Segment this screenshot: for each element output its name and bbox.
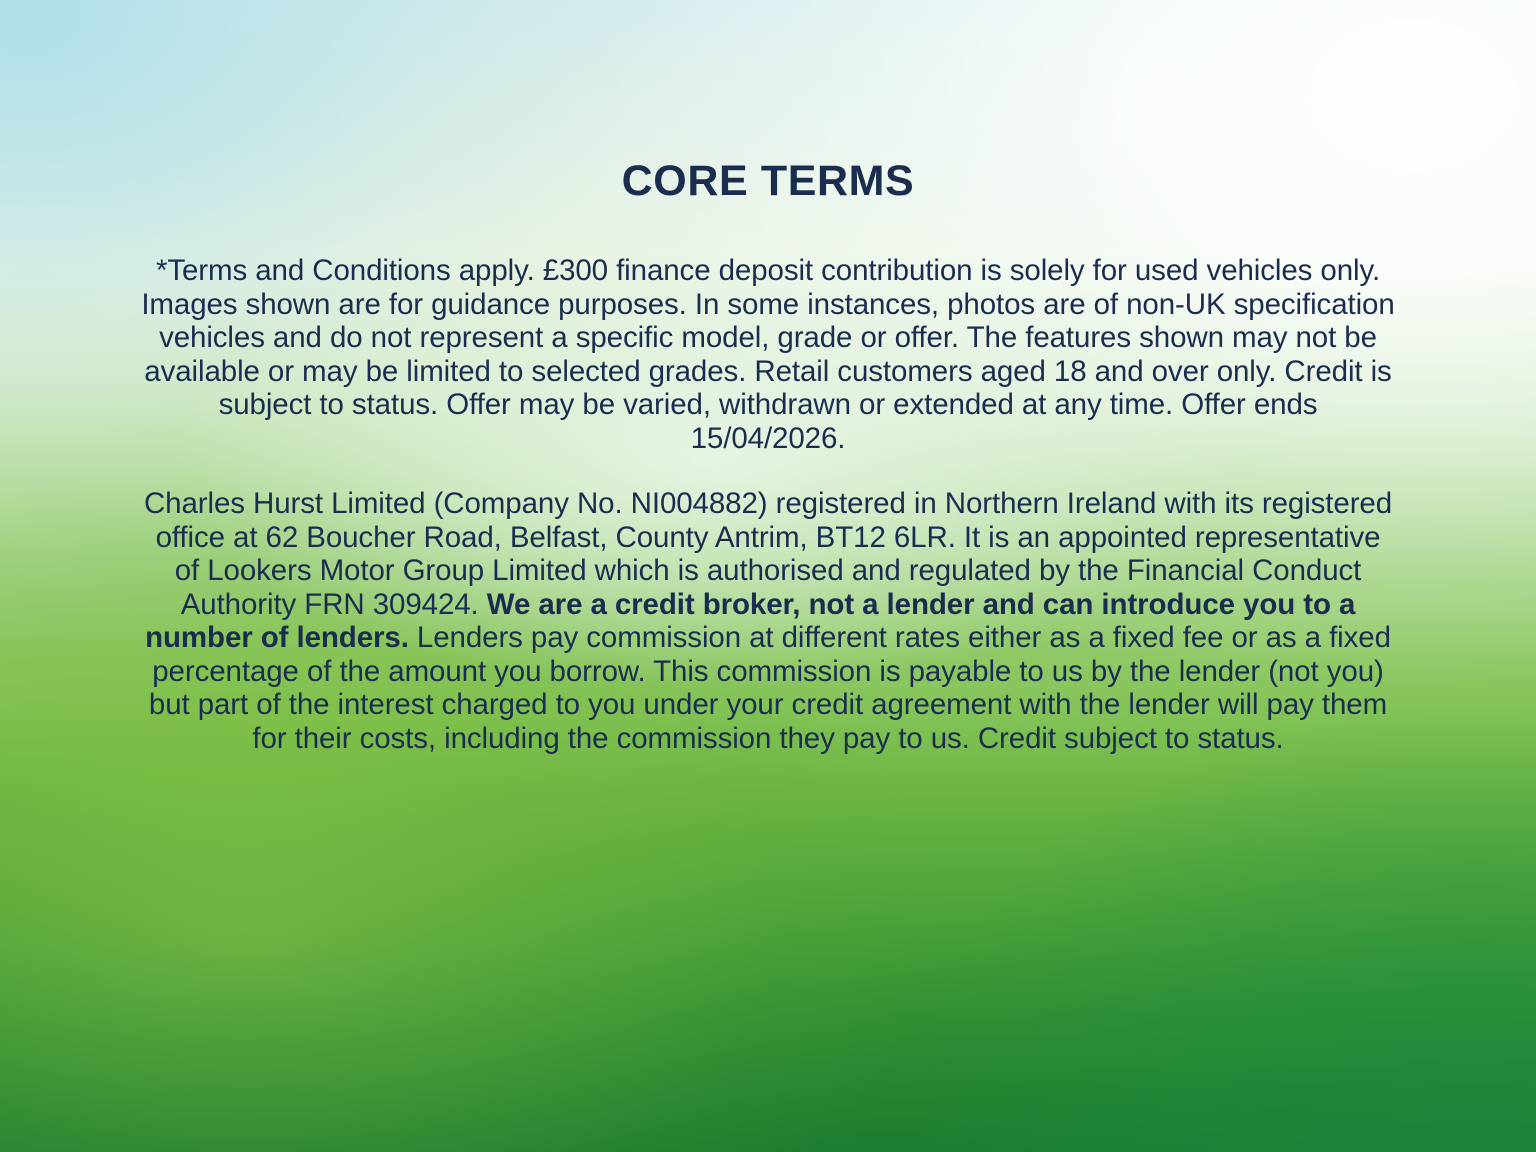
page-title: CORE TERMS xyxy=(0,158,1536,205)
offer-terms-paragraph: *Terms and Conditions apply. £300 financ… xyxy=(141,254,1395,455)
core-terms-slide: CORE TERMS *Terms and Conditions apply. … xyxy=(0,0,1536,1152)
slide-content: CORE TERMS *Terms and Conditions apply. … xyxy=(0,0,1536,1152)
broker-disclosure-paragraph: Charles Hurst Limited (Company No. NI004… xyxy=(141,487,1395,755)
